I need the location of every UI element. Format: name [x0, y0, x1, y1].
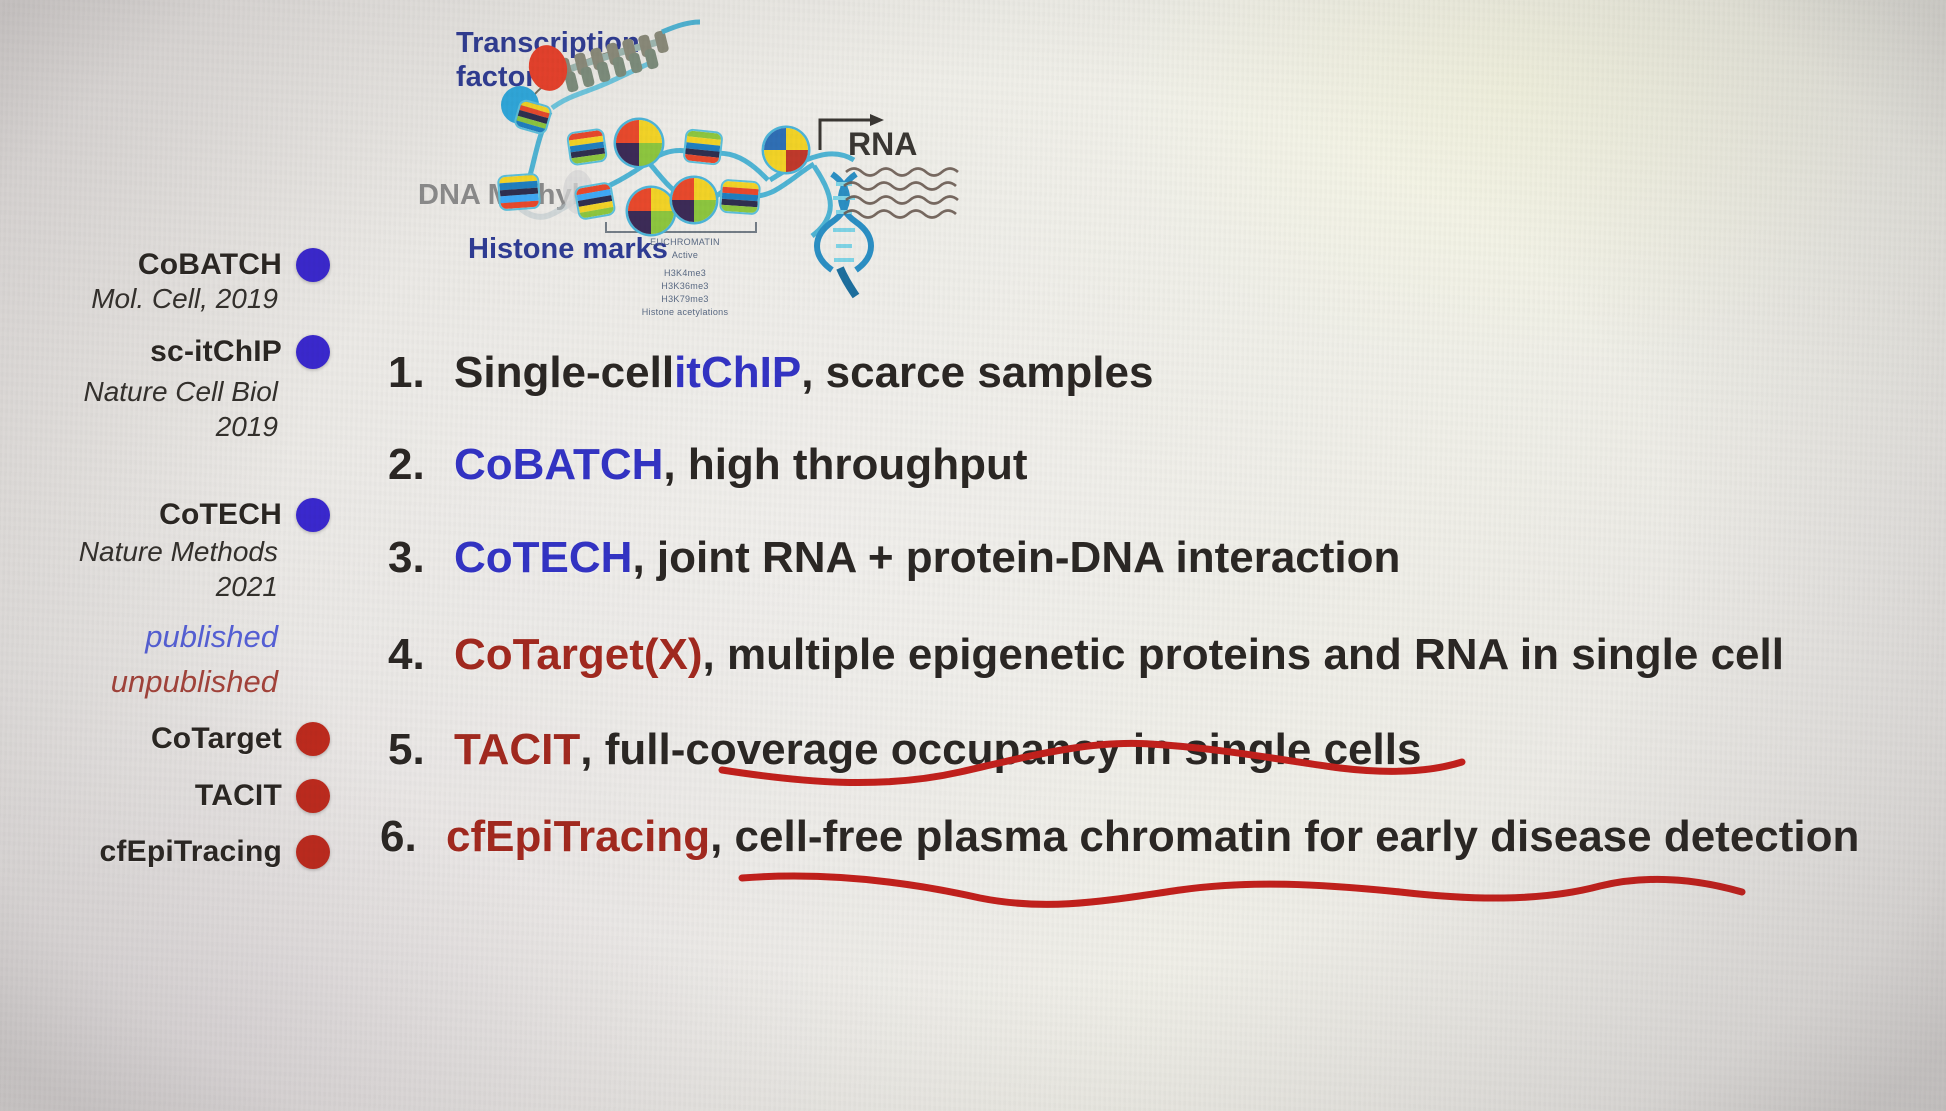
nucleosome-bead	[764, 128, 808, 172]
histone-stack	[499, 175, 539, 210]
legend-item-tacit[interactable]: TACIT	[195, 779, 330, 813]
histone-acetylations: Histone acetylations	[610, 306, 760, 319]
legend-journal-sc-itchip: Nature Cell Biol	[83, 376, 278, 407]
legend-dot-red	[296, 835, 330, 869]
legend-name-cfepitracing: cfEpiTracing	[100, 835, 282, 869]
list-item-number: 5.	[388, 725, 454, 775]
list-item-number: 3.	[388, 533, 454, 583]
histone-stack	[685, 130, 722, 163]
legend-dot-red	[296, 779, 330, 813]
nucleosome-bead	[616, 120, 662, 166]
euchromatin-annotation: EUCHROMATIN Active H3K4me3 H3K36me3 H3K7…	[610, 236, 760, 319]
histone-mark-0: H3K4me3	[610, 267, 760, 280]
euchromatin-title: EUCHROMATIN	[610, 236, 760, 249]
histone-mark-1: H3K36me3	[610, 280, 760, 293]
annotation-stroke-bottom	[742, 876, 1742, 904]
list-item-prefix: Single-cell	[454, 348, 674, 398]
list-item-suffix: , joint RNA + protein-DNA interaction	[632, 533, 1400, 583]
list-item-highlight: CoBATCH	[454, 440, 663, 490]
list-item-highlight: TACIT	[454, 725, 580, 775]
legend-name-sc-itchip: sc-itChIP	[150, 335, 282, 369]
list-item-suffix: , cell-free plasma chromatin for early d…	[710, 812, 1859, 862]
nucleosome-bead	[672, 178, 716, 222]
legend-journal-year-sc-itchip: 2019	[216, 411, 278, 442]
legend-item-cfepitracing[interactable]: cfEpiTracing	[100, 835, 330, 869]
list-item-number: 1.	[388, 348, 454, 398]
list-item-highlight: CoTarget(X)	[454, 630, 703, 680]
legend-item-cotarget[interactable]: CoTarget	[151, 722, 330, 756]
list-item-suffix: , high throughput	[663, 440, 1027, 490]
legend-item-cotech[interactable]: CoTECH	[159, 498, 330, 532]
histone-mark-2: H3K79me3	[610, 293, 760, 306]
histone-stack	[576, 183, 615, 218]
list-item[interactable]: 5. TACIT, full-coverage occupancy in sin…	[388, 725, 1421, 775]
list-item-number: 4.	[388, 630, 454, 680]
legend-dot-red	[296, 722, 330, 756]
list-item-suffix: , multiple epigenetic proteins and RNA i…	[703, 630, 1784, 680]
legend-status-unpublished: unpublished	[111, 664, 278, 700]
slide-photo: Transcription factors DNA Methyl Histone…	[0, 0, 1946, 1111]
euchromatin-state: Active	[610, 249, 760, 262]
list-item-number: 2.	[388, 440, 454, 490]
chromatin-diagram: Transcription factors DNA Methyl Histone…	[400, 0, 1020, 320]
legend-name-cobatch: CoBATCH	[138, 248, 282, 282]
legend-name-tacit: TACIT	[195, 779, 282, 813]
list-item-suffix: , scarce samples	[801, 348, 1153, 398]
histone-stack	[568, 130, 606, 164]
list-item[interactable]: 2. CoBATCH, high throughput	[388, 440, 1027, 490]
legend-journal-year-cotech: 2021	[216, 571, 278, 602]
list-item-highlight: itChIP	[674, 348, 801, 398]
legend-status-published: published	[145, 619, 278, 655]
rna-squiggles	[844, 169, 958, 218]
list-item[interactable]: 1. Single-cell itChIP, scarce samples	[388, 348, 1153, 398]
transcription-factor-red-blob	[525, 42, 572, 95]
legend-journal-cotech: Nature Methods	[79, 536, 278, 567]
nucleosome-bead	[628, 188, 674, 234]
list-item-highlight: CoTECH	[454, 533, 632, 583]
legend-dot-blue	[296, 248, 330, 282]
list-item[interactable]: 6. cfEpiTracing, cell-free plasma chroma…	[380, 812, 1859, 862]
legend-item-sc-itchip[interactable]: sc-itChIP	[150, 335, 330, 369]
legend-dot-blue	[296, 498, 330, 532]
legend-journal-cobatch: Mol. Cell, 2019	[91, 283, 278, 314]
list-item-highlight: cfEpiTracing	[446, 812, 710, 862]
list-item-number: 6.	[380, 812, 446, 862]
list-item[interactable]: 4. CoTarget(X), multiple epigenetic prot…	[388, 630, 1784, 680]
legend-dot-blue	[296, 335, 330, 369]
list-item-suffix: , full-coverage occupancy in single cell…	[580, 725, 1421, 775]
legend-item-cobatch[interactable]: CoBATCH	[138, 248, 330, 282]
list-item[interactable]: 3. CoTECH, joint RNA + protein-DNA inter…	[388, 533, 1400, 583]
legend-name-cotarget: CoTarget	[151, 722, 282, 756]
legend-name-cotech: CoTECH	[159, 498, 282, 532]
histone-stack	[721, 181, 759, 213]
